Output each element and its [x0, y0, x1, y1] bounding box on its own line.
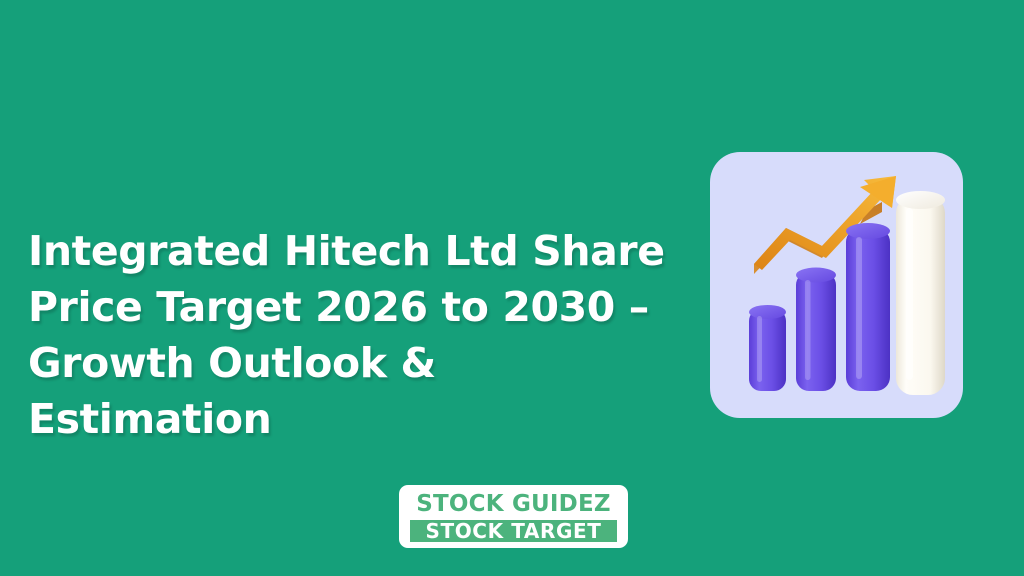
- logo-tagline-text: STOCK TARGET: [425, 520, 601, 542]
- page-title: Integrated Hitech Ltd Share Price Target…: [28, 223, 668, 447]
- site-logo[interactable]: STOCK GUIDEZ STOCK TARGET: [399, 485, 628, 548]
- logo-brand-text: STOCK GUIDEZ: [416, 491, 611, 517]
- bar-3: [846, 223, 890, 391]
- growth-bar-chart-3d-icon: [710, 152, 963, 418]
- bar-1: [749, 305, 786, 391]
- banner-canvas: Integrated Hitech Ltd Share Price Target…: [0, 0, 1024, 576]
- bar-2: [796, 268, 836, 392]
- logo-tagline-band: STOCK TARGET: [410, 520, 617, 542]
- bar-4: [896, 191, 945, 395]
